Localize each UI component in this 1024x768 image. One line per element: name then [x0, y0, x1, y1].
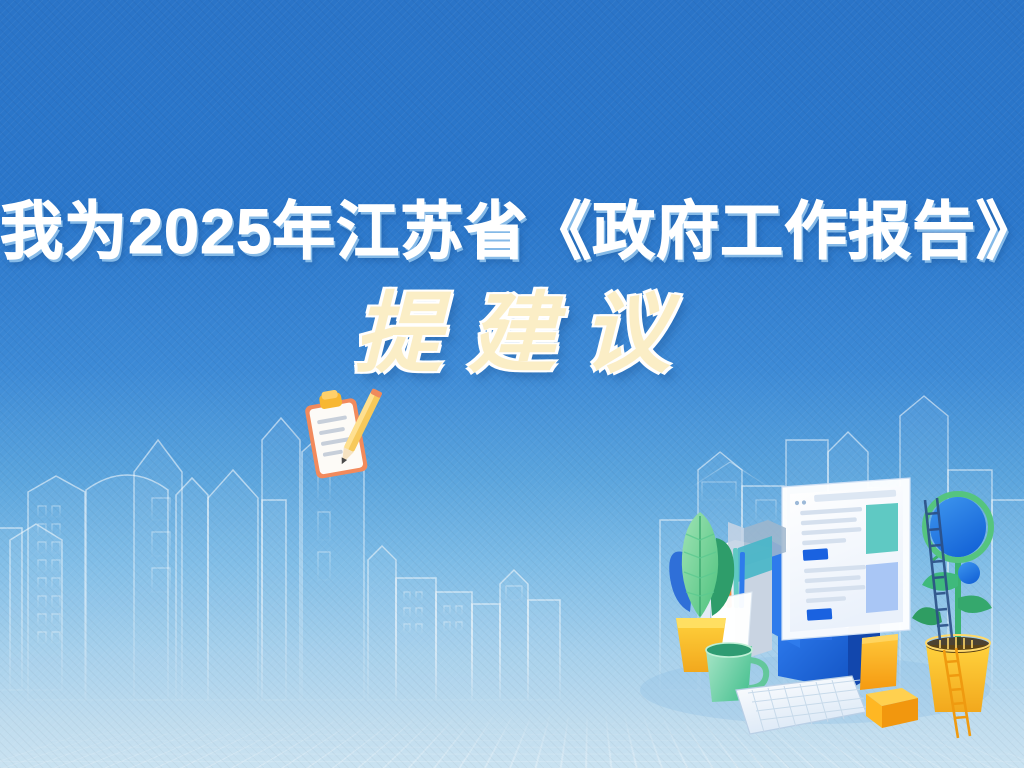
poster-headline: 我为2025年江苏省《政府工作报告》 提建议	[0, 198, 1024, 378]
headline-line-1: 我为2025年江苏省《政府工作报告》	[0, 198, 1024, 266]
headline-line-2: 提建议	[0, 290, 1024, 378]
city-skyline-decoration	[0, 0, 1024, 768]
skyline-svg	[0, 0, 1024, 768]
banner-poster: 我为2025年江苏省《政府工作报告》 提建议	[0, 0, 1024, 768]
